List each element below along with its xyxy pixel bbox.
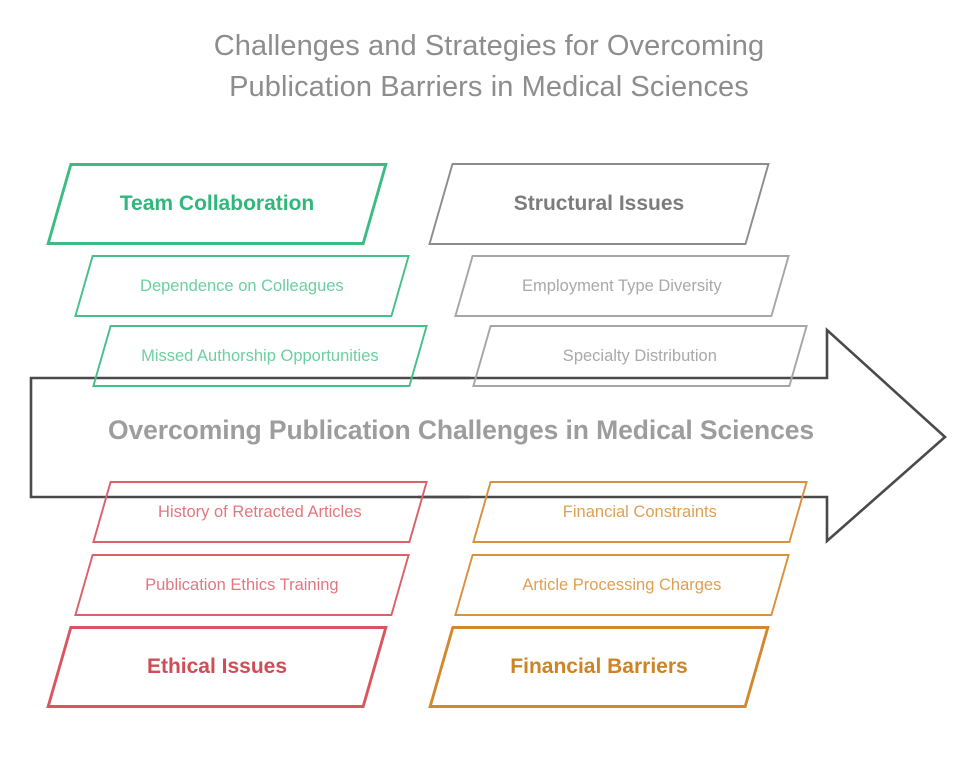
- card-history-of-retracted-articles[interactable]: History of Retracted Articles: [92, 481, 428, 543]
- card-structural-issues[interactable]: Structural Issues: [428, 163, 770, 245]
- card-label: Employment Type Diversity: [465, 277, 779, 296]
- arrow-label: Overcoming Publication Challenges in Med…: [31, 415, 891, 446]
- card-label: Dependence on Colleagues: [85, 277, 399, 296]
- card-label: Publication Ethics Training: [85, 576, 399, 595]
- card-article-processing-charges[interactable]: Article Processing Charges: [454, 554, 790, 616]
- card-dependence-on-colleagues[interactable]: Dependence on Colleagues: [74, 255, 410, 317]
- card-ethical-issues[interactable]: Ethical Issues: [46, 626, 388, 708]
- card-label: Team Collaboration: [61, 192, 373, 216]
- card-label: History of Retracted Articles: [103, 503, 417, 522]
- card-label: Financial Barriers: [443, 655, 755, 679]
- diagram-canvas: Challenges and Strategies for Overcoming…: [0, 0, 978, 768]
- card-team-collaboration[interactable]: Team Collaboration: [46, 163, 388, 245]
- card-label: Structural Issues: [442, 192, 756, 216]
- card-missed-authorship-opportunities[interactable]: Missed Authorship Opportunities: [92, 325, 428, 387]
- card-label: Missed Authorship Opportunities: [103, 347, 417, 366]
- card-financial-constraints[interactable]: Financial Constraints: [472, 481, 808, 543]
- card-label: Article Processing Charges: [465, 576, 779, 595]
- card-label: Ethical Issues: [61, 655, 373, 679]
- card-label: Specialty Distribution: [483, 347, 797, 366]
- card-label: Financial Constraints: [483, 503, 797, 522]
- card-publication-ethics-training[interactable]: Publication Ethics Training: [74, 554, 410, 616]
- card-specialty-distribution[interactable]: Specialty Distribution: [472, 325, 808, 387]
- card-financial-barriers[interactable]: Financial Barriers: [428, 626, 770, 708]
- card-employment-type-diversity[interactable]: Employment Type Diversity: [454, 255, 790, 317]
